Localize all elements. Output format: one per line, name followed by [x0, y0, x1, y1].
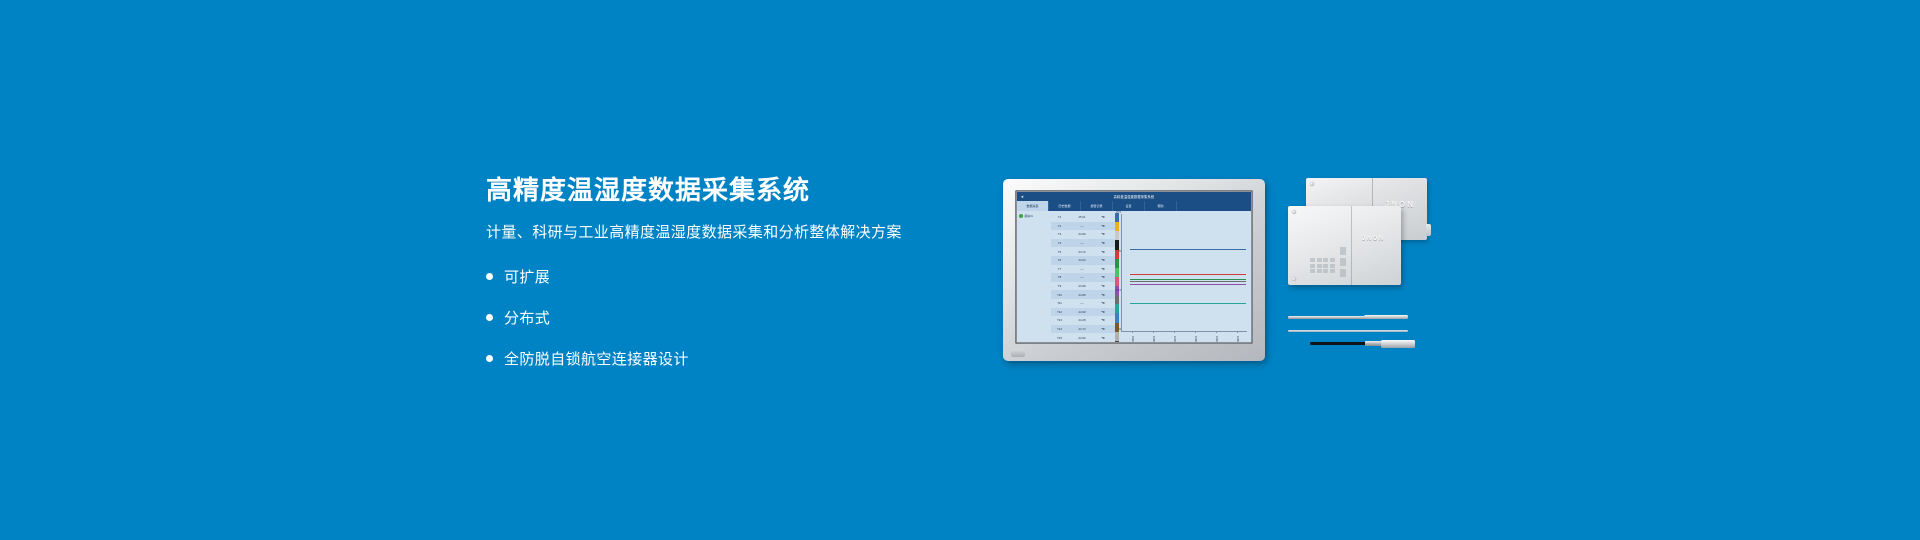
table-row[interactable]: T8----℃: [1051, 273, 1115, 282]
table-row[interactable]: T524.72℃: [1051, 247, 1115, 256]
table-cell-unit: ℃: [1096, 258, 1110, 262]
table-cell-value: 25.01: [1068, 215, 1096, 219]
screw-icon: [1292, 210, 1296, 214]
port-cell: [1330, 269, 1335, 273]
tab-settings[interactable]: 设置: [1113, 201, 1145, 211]
brand-logo: JNON: [1362, 236, 1385, 242]
feature-label: 全防脱自锁航空连接器设计: [504, 348, 689, 369]
page-subtitle: 计量、科研与工业高精度温湿度数据采集和分析整体解决方案: [486, 224, 1006, 242]
table-cell-value: 24.99: [1068, 232, 1096, 236]
table-cell-ch: T13: [1051, 318, 1068, 322]
bullet-dot-icon: [486, 273, 493, 280]
trend-chart-plot: 25.52524.52423.52310:00:0010:05:0010:10:…: [1121, 214, 1247, 332]
probe-shaft: [1288, 316, 1366, 319]
device-tree-panel: 模块01: [1017, 211, 1051, 342]
table-cell-unit: ℃: [1096, 224, 1110, 228]
feature-item-expandable: 可扩展: [486, 262, 1006, 292]
table-cell-unit: ℃: [1096, 301, 1110, 305]
module-seam: [1351, 206, 1352, 285]
feature-item-distributed: 分布式: [486, 303, 1006, 333]
table-cell-ch: T8: [1051, 275, 1068, 279]
chart-series-line: [1130, 249, 1246, 250]
chart-series-line: [1130, 281, 1246, 282]
sensor-wire: [1288, 330, 1408, 332]
module-side-connector: [1426, 224, 1431, 236]
probe-collar: [1364, 315, 1408, 319]
connector-block-icon: [1340, 269, 1346, 277]
table-row[interactable]: T11----℃: [1051, 299, 1115, 308]
port-cell: [1310, 269, 1315, 273]
table-cell-value: ----: [1068, 267, 1096, 271]
port-cell: [1310, 258, 1315, 262]
chart-x-tick-label: 10:15:00: [1194, 336, 1197, 342]
monitor-screen-frame: ◄ 高精度温湿度数据采集系统 数据采集 历史数据 报警记录 设置 帮助: [1015, 190, 1253, 344]
table-cell-ch: T7: [1051, 267, 1068, 271]
product-hero-banner: 高精度温湿度数据采集系统 计量、科研与工业高精度温湿度数据采集和分析整体解决方案…: [0, 0, 1920, 540]
table-cell-value: 24.28: [1068, 318, 1096, 322]
connector-block-icon: [1340, 258, 1346, 266]
tab-history[interactable]: 历史数据: [1049, 201, 1081, 211]
probe-body: [1381, 340, 1415, 348]
tab-data-acquisition[interactable]: 数据采集: [1017, 201, 1049, 211]
chart-x-tick-label: 10:20:00: [1215, 336, 1218, 342]
tree-item-label: 模块01: [1025, 214, 1033, 218]
table-cell-unit: ℃: [1096, 267, 1110, 271]
feature-label: 分布式: [504, 307, 550, 328]
tab-alarm-log[interactable]: 报警记录: [1081, 201, 1113, 211]
table-cell-ch: T9: [1051, 284, 1068, 288]
port-cell: [1310, 264, 1315, 268]
table-cell-value: ----: [1068, 301, 1096, 305]
hero-copy-block: 高精度温湿度数据采集系统 计量、科研与工业高精度温湿度数据采集和分析整体解决方案…: [486, 176, 1006, 390]
table-cell-value: 24.98: [1068, 284, 1096, 288]
table-cell-ch: T10: [1051, 293, 1068, 297]
table-cell-value: 24.72: [1068, 250, 1096, 254]
chart-x-tick-label: 10:05:00: [1152, 336, 1155, 342]
table-cell-value: 24.73: [1068, 327, 1096, 331]
app-body: 模块01 T125.01℃T2----℃T324.99℃T4----℃T524.…: [1017, 211, 1251, 342]
table-cell-value: ----: [1068, 224, 1096, 228]
monitor-bezel: ◄ 高精度温湿度数据采集系统 数据采集 历史数据 报警记录 设置 帮助: [1003, 179, 1265, 361]
table-row[interactable]: T924.98℃: [1051, 282, 1115, 291]
trend-chart-panel: 25.52524.52423.52310:00:0010:05:0010:10:…: [1119, 211, 1251, 342]
port-cell: [1323, 264, 1328, 268]
port-cell: [1317, 258, 1322, 262]
port-cell: [1330, 264, 1335, 268]
table-cell-ch: T15: [1051, 336, 1068, 340]
acquisition-software-screen: ◄ 高精度温湿度数据采集系统 数据采集 历史数据 报警记录 设置 帮助: [1017, 192, 1251, 342]
table-cell-ch: T14: [1051, 327, 1068, 331]
chart-y-tick-label: 24: [1111, 328, 1121, 331]
table-cell-unit: ℃: [1096, 318, 1110, 322]
chart-x-tick-label: 10:00:00: [1131, 336, 1134, 342]
table-cell-unit: ℃: [1096, 241, 1110, 245]
port-cell: [1330, 258, 1335, 262]
feature-item-connector: 全防脱自锁航空连接器设计: [486, 344, 1006, 374]
bullet-dot-icon: [486, 314, 493, 321]
table-cell-value: ----: [1068, 275, 1096, 279]
monitor-stand-foot: [1011, 349, 1025, 357]
table-row[interactable]: T624.63℃: [1051, 256, 1115, 265]
chart-series-line: [1130, 274, 1246, 275]
tab-help[interactable]: 帮助: [1145, 201, 1177, 211]
chart-y-tick-label: 25.5: [1111, 211, 1121, 214]
table-cell-ch: T12: [1051, 310, 1068, 314]
table-cell-value: 24.90: [1068, 310, 1096, 314]
acquisition-module-front: JNON: [1288, 206, 1401, 285]
table-cell-value: 24.88: [1068, 293, 1096, 297]
table-cell-ch: T5: [1051, 250, 1068, 254]
status-dot-icon: [1019, 214, 1023, 218]
panel-monitor-product-image: ◄ 高精度温湿度数据采集系统 数据采集 历史数据 报警记录 设置 帮助: [1003, 179, 1265, 361]
feature-label: 可扩展: [504, 266, 550, 287]
terminal-port-grid: [1310, 258, 1335, 273]
port-cell: [1317, 269, 1322, 273]
table-cell-value: ----: [1068, 241, 1096, 245]
chart-series-line: [1130, 279, 1246, 280]
page-title: 高精度温湿度数据采集系统: [486, 176, 1006, 205]
app-tab-bar: 数据采集 历史数据 报警记录 设置 帮助: [1017, 201, 1251, 211]
screw-icon: [1292, 277, 1296, 281]
table-cell-ch: T2: [1051, 224, 1068, 228]
table-cell-ch: T6: [1051, 258, 1068, 262]
port-cell: [1317, 264, 1322, 268]
table-cell-ch: T11: [1051, 301, 1068, 305]
table-row[interactable]: T1224.90℃: [1051, 308, 1115, 317]
table-cell-ch: T3: [1051, 232, 1068, 236]
table-cell-unit: ℃: [1096, 284, 1110, 288]
table-row[interactable]: T1324.28℃: [1051, 316, 1115, 325]
table-cell-unit: ℃: [1096, 232, 1110, 236]
tree-item-module[interactable]: 模块01: [1019, 214, 1049, 218]
table-cell-ch: T1: [1051, 215, 1068, 219]
temperature-probe-stainless: [1288, 315, 1408, 320]
chart-x-tick-label: 10:25:00: [1236, 336, 1239, 342]
screw-icon: [1310, 182, 1314, 186]
table-row[interactable]: T7----℃: [1051, 265, 1115, 274]
app-title: 高精度温湿度数据采集系统: [1017, 194, 1251, 199]
table-row[interactable]: T125.01℃: [1051, 213, 1115, 222]
channel-readings-table: T125.01℃T2----℃T324.99℃T4----℃T524.72℃T6…: [1051, 211, 1115, 342]
port-cell: [1323, 269, 1328, 273]
chart-series-line: [1130, 284, 1246, 285]
table-cell-unit: ℃: [1096, 310, 1110, 314]
table-cell-unit: ℃: [1096, 215, 1110, 219]
table-row[interactable]: T1524.90℃: [1051, 333, 1115, 342]
table-cell-unit: ℃: [1096, 275, 1110, 279]
bullet-dot-icon: [486, 355, 493, 362]
chart-y-tick-label: 25: [1111, 250, 1121, 253]
table-row[interactable]: T1024.88℃: [1051, 290, 1115, 299]
table-row[interactable]: T324.99℃: [1051, 230, 1115, 239]
table-row[interactable]: T2----℃: [1051, 222, 1115, 231]
table-cell-value: 24.63: [1068, 258, 1096, 262]
table-cell-unit: ℃: [1096, 293, 1110, 297]
table-cell-value: 24.90: [1068, 336, 1096, 340]
table-cell-unit: ℃: [1096, 336, 1110, 340]
port-cell: [1323, 258, 1328, 262]
table-cell-ch: T4: [1051, 241, 1068, 245]
chart-y-tick-label: 24.5: [1111, 289, 1121, 292]
table-row[interactable]: T4----℃: [1051, 239, 1115, 248]
probe-cable: [1310, 342, 1368, 345]
chart-x-tick-label: 10:10:00: [1173, 336, 1176, 342]
table-row[interactable]: T1424.73℃: [1051, 325, 1115, 334]
temperature-probe-cabled: [1310, 339, 1415, 348]
table-cell-unit: ℃: [1096, 250, 1110, 254]
connector-block-icon: [1340, 247, 1346, 255]
app-titlebar: ◄ 高精度温湿度数据采集系统: [1017, 192, 1251, 201]
chart-series-line: [1130, 303, 1246, 304]
feature-list: 可扩展 分布式 全防脱自锁航空连接器设计: [486, 262, 1006, 374]
table-cell-unit: ℃: [1096, 327, 1110, 331]
